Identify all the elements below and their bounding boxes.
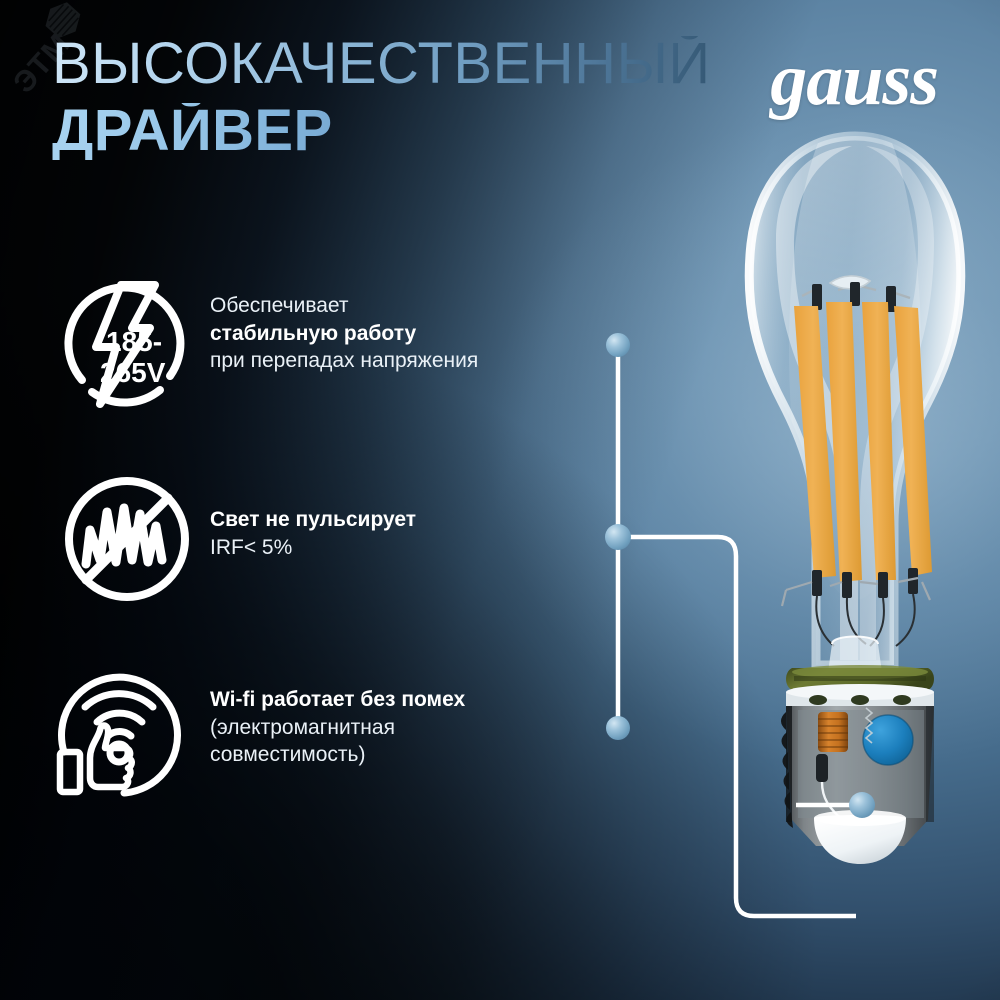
- voltage-range-bottom: 265V: [100, 357, 166, 388]
- no-flicker-icon-wrap: [52, 464, 202, 614]
- feature-line: совместимость): [210, 741, 465, 769]
- feature-line: Wi-fi работает без помех: [210, 686, 465, 714]
- feature-item-no-flicker: Свет не пульсирует IRF< 5%: [52, 464, 572, 614]
- voltage-range-top: 185-: [106, 326, 162, 357]
- feature-line: (электромагнитная: [210, 714, 465, 742]
- headline-block: ВЫСОКАЧЕСТВЕННЫЙ ДРАЙВЕР: [52, 36, 772, 160]
- wifi-thumbs-up-icon: [52, 660, 202, 810]
- feature-item-wifi: Wi-fi работает без помех (электромагнитн…: [52, 660, 572, 810]
- voltage-bolt-icon: 185- 265V: [52, 268, 202, 418]
- feature-text-wifi: Wi-fi работает без помех (электромагнитн…: [202, 660, 465, 769]
- feature-line: Обеспечивает: [210, 292, 478, 320]
- no-flicker-icon: [52, 464, 202, 614]
- gauss-logo: gauss: [770, 38, 938, 123]
- wifi-thumbs-up-icon-wrap: [52, 660, 202, 810]
- headline-line-1: ВЫСОКАЧЕСТВЕННЫЙ: [52, 36, 772, 93]
- feature-text-voltage: Обеспечивает стабильную работу при переп…: [202, 268, 478, 375]
- feature-line: Свет не пульсирует: [210, 506, 416, 534]
- feature-line: стабильную работу: [210, 320, 478, 348]
- feature-item-voltage: 185- 265V Обеспечивает стабильную работу…: [52, 268, 572, 418]
- feature-list: 185- 265V Обеспечивает стабильную работу…: [52, 268, 572, 810]
- feature-line: при перепадах напряжения: [210, 347, 478, 375]
- feature-text-no-flicker: Свет не пульсирует IRF< 5%: [202, 464, 416, 561]
- headline-line-2: ДРАЙВЕР: [52, 103, 772, 160]
- voltage-bolt-icon-wrap: 185- 265V: [52, 268, 202, 418]
- promo-banner: ЭТМ ВЫСОКАЧЕСТВЕННЫЙ ДРАЙВЕР gauss: [0, 0, 1000, 1000]
- feature-line: IRF< 5%: [210, 534, 416, 562]
